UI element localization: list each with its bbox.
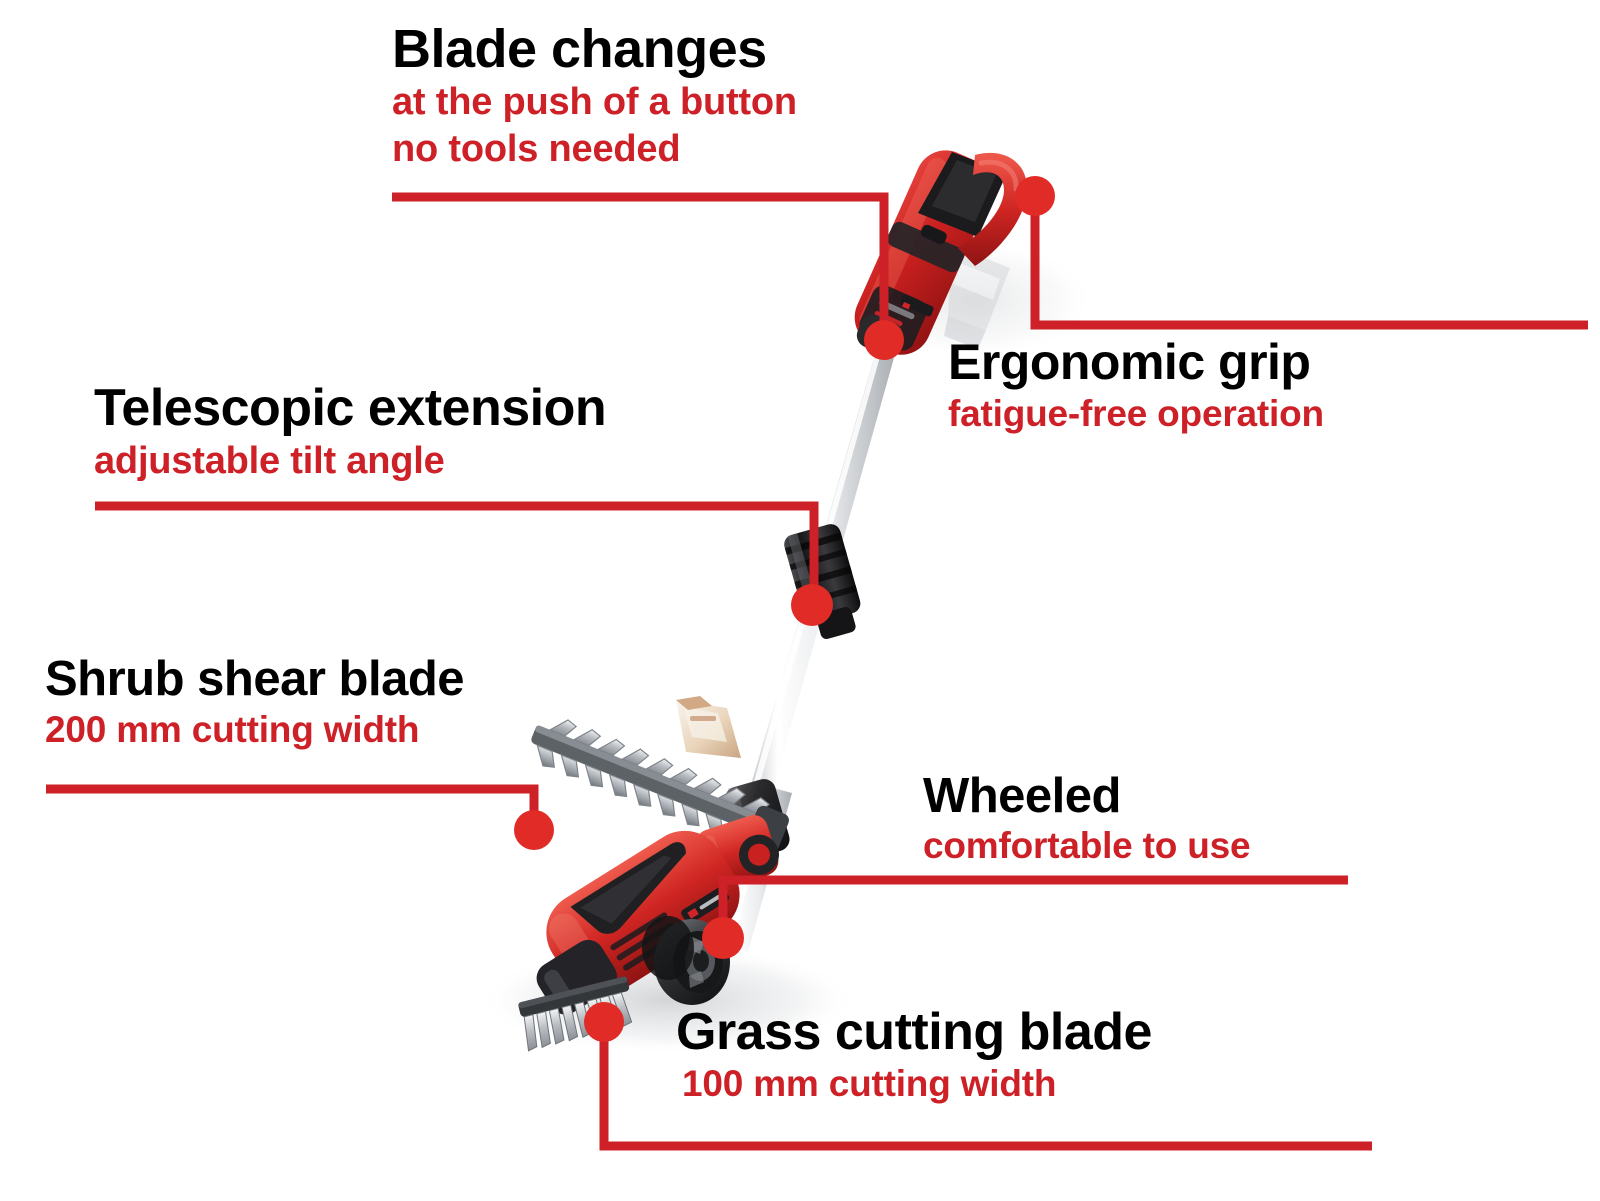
callout-title: Ergonomic grip: [948, 337, 1324, 387]
callout-subtitle-line1: fatigue-free operation: [948, 394, 1324, 434]
callout-shrub-shear-blade: Shrub shear blade 200 mm cutting width: [45, 655, 464, 750]
blade-guard-card: [676, 696, 741, 758]
callout-blade-changes: Blade changes at the push of a button no…: [392, 22, 797, 170]
callout-title: Telescopic extension: [94, 382, 606, 434]
callout-title: Wheeled: [923, 772, 1250, 821]
callout-ergonomic-grip: Ergonomic grip fatigue-free operation: [948, 337, 1324, 434]
callout-subtitle-line1: comfortable to use: [923, 826, 1250, 866]
callout-title: Shrub shear blade: [45, 655, 464, 704]
infographic-canvas: Blade changes at the push of a button no…: [0, 0, 1600, 1201]
callout-wheeled: Wheeled comfortable to use: [923, 772, 1250, 866]
callout-title: Grass cutting blade: [676, 1006, 1152, 1058]
callout-subtitle-line1: adjustable tilt angle: [94, 441, 606, 482]
callout-subtitle-line1: at the push of a button: [392, 82, 797, 123]
callout-subtitle-line1: 100 mm cutting width: [682, 1064, 1152, 1104]
telescopic-collar: [782, 522, 868, 644]
callout-telescopic-extension: Telescopic extension adjustable tilt ang…: [94, 382, 606, 482]
callout-title: Blade changes: [392, 22, 797, 76]
callout-subtitle-line2: no tools needed: [392, 129, 797, 170]
callout-grass-cutting-blade: Grass cutting blade 100 mm cutting width: [676, 1006, 1152, 1104]
callout-subtitle-line1: 200 mm cutting width: [45, 710, 464, 750]
wheel-far: [642, 916, 694, 980]
